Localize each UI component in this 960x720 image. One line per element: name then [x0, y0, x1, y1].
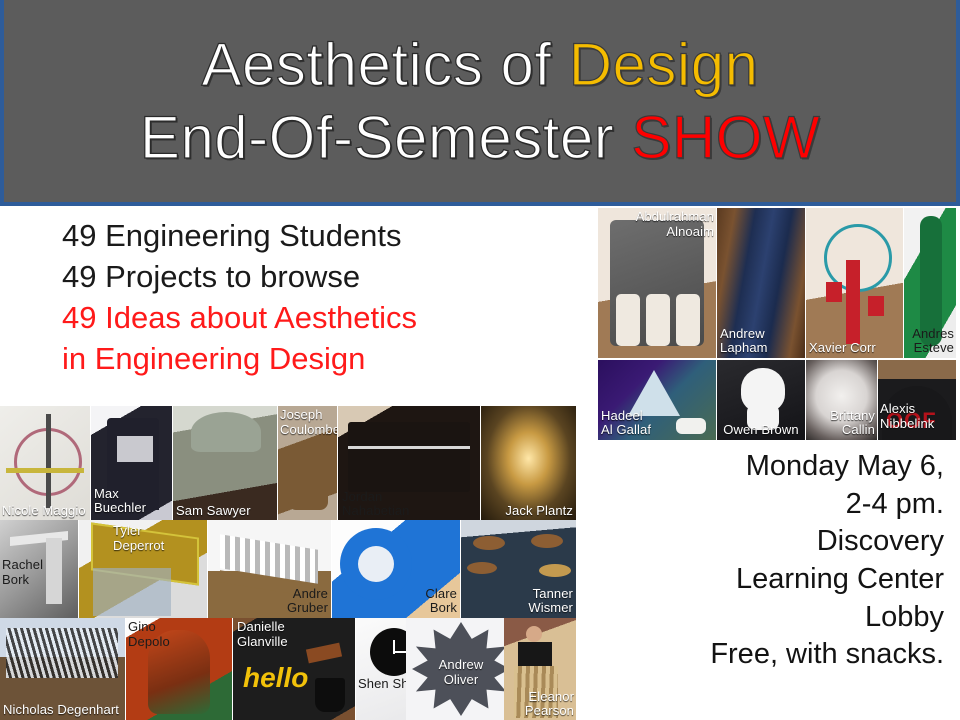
- banner-line-1-accent: Design: [569, 31, 759, 98]
- gallery-top-right: Abdulrahman Alnoaim Andrew Lapham Xavier…: [598, 208, 956, 440]
- headline-line-1: 49 Engineering Students: [62, 216, 582, 257]
- project-caption: Jack Plantz: [505, 504, 573, 519]
- title-banner: Aesthetics of Design End-Of-Semester SHO…: [0, 0, 960, 206]
- event-admission: Free, with snacks.: [574, 636, 944, 674]
- project-caption: Eleanor Pearson: [525, 690, 574, 719]
- headline-line-4: in Engineering Design: [62, 339, 582, 380]
- project-tile[interactable]: Eleanor Pearson: [504, 618, 576, 720]
- project-caption: Jordan Nahabetian: [342, 490, 410, 519]
- project-tile[interactable]: Tyler Deperrot: [79, 520, 207, 618]
- project-tile[interactable]: Abdulrahman Alnoaim: [598, 208, 716, 358]
- project-tile[interactable]: Sam Sawyer: [173, 406, 277, 520]
- project-caption: Owen Brown: [717, 423, 805, 438]
- project-tile[interactable]: Gino Depolo: [126, 618, 232, 720]
- project-caption: Abdulrahman Alnoaim: [636, 210, 714, 239]
- event-venue-line-2: Learning Center: [574, 561, 944, 599]
- event-venue-line-1: Discovery: [574, 523, 944, 561]
- project-caption: Max Buechler: [94, 487, 146, 516]
- project-caption: Hadeel Al Gallaf: [601, 409, 651, 438]
- banner-line-2: End-Of-Semester SHOW: [140, 101, 820, 174]
- project-tile[interactable]: OOF Alexis Nibbelink: [878, 360, 956, 440]
- project-caption: Tanner Wismer: [528, 587, 573, 616]
- project-tile[interactable]: Clare Bork: [332, 520, 460, 618]
- project-tile[interactable]: Tanner Wismer: [461, 520, 576, 618]
- project-caption: Clare Bork: [425, 587, 457, 616]
- project-caption: Joseph Coulombe: [280, 408, 337, 437]
- project-caption: Gino Depolo: [128, 620, 170, 649]
- project-tile[interactable]: Rachel Bork: [0, 520, 78, 618]
- project-tile[interactable]: Andrew Oliver: [406, 618, 516, 720]
- project-caption: Andres Esteve: [912, 327, 954, 356]
- headline-line-3: 49 Ideas about Aesthetics: [62, 298, 582, 339]
- project-caption: Danielle Glanville: [237, 620, 288, 649]
- project-caption: Alexis Nibbelink: [880, 402, 956, 431]
- banner-line-2-accent: SHOW: [631, 104, 820, 171]
- event-time: 2-4 pm.: [574, 486, 944, 524]
- project-tile[interactable]: Andre Gruber: [208, 520, 331, 618]
- headline-line-2: 49 Projects to browse: [62, 257, 582, 298]
- project-tile[interactable]: Nicole Maggio: [0, 406, 90, 520]
- project-caption: Andre Gruber: [287, 587, 328, 616]
- project-tile[interactable]: Jordan Nahabetian: [338, 406, 480, 520]
- project-caption: Xavier Corr: [809, 341, 876, 356]
- project-caption: Nicole Maggio: [2, 504, 86, 519]
- project-tile[interactable]: Andrew Lapham: [717, 208, 805, 358]
- project-caption: Nicholas Degenhart: [3, 703, 119, 718]
- project-tile[interactable]: Andres Esteve: [904, 208, 956, 358]
- gallery-left: Nicole Maggio Max Buechler Sam Sawyer Jo…: [0, 406, 576, 720]
- project-tile[interactable]: Owen Brown: [717, 360, 805, 440]
- project-tile[interactable]: Jack Plantz: [481, 406, 576, 520]
- project-caption: Andrew Oliver: [406, 658, 516, 687]
- banner-line-2-plain: End-Of-Semester: [140, 104, 632, 171]
- event-date: Monday May 6,: [574, 448, 944, 486]
- banner-line-1-plain: Aesthetics of: [202, 31, 569, 98]
- headline-block: 49 Engineering Students 49 Projects to b…: [62, 216, 582, 380]
- project-caption: Sam Sawyer: [176, 504, 251, 519]
- project-tile[interactable]: Nicholas Degenhart: [0, 618, 125, 720]
- project-caption: Tyler Deperrot: [113, 524, 164, 553]
- project-tile[interactable]: Xavier Corr: [806, 208, 903, 358]
- project-caption: Andrew Lapham: [720, 327, 768, 356]
- event-info-block: Monday May 6, 2-4 pm. Discovery Learning…: [574, 448, 944, 674]
- event-venue-line-3: Lobby: [574, 599, 944, 637]
- project-tile[interactable]: Hadeel Al Gallaf: [598, 360, 716, 440]
- project-tile[interactable]: Brittany Callin: [806, 360, 877, 440]
- banner-line-1: Aesthetics of Design: [202, 28, 759, 101]
- project-caption: Brittany Callin: [830, 409, 875, 438]
- project-tile[interactable]: hello Danielle Glanville: [233, 618, 355, 720]
- project-tile[interactable]: Max Buechler: [91, 406, 172, 520]
- project-caption: Rachel Bork: [2, 558, 43, 587]
- project-tile[interactable]: Joseph Coulombe: [278, 406, 337, 520]
